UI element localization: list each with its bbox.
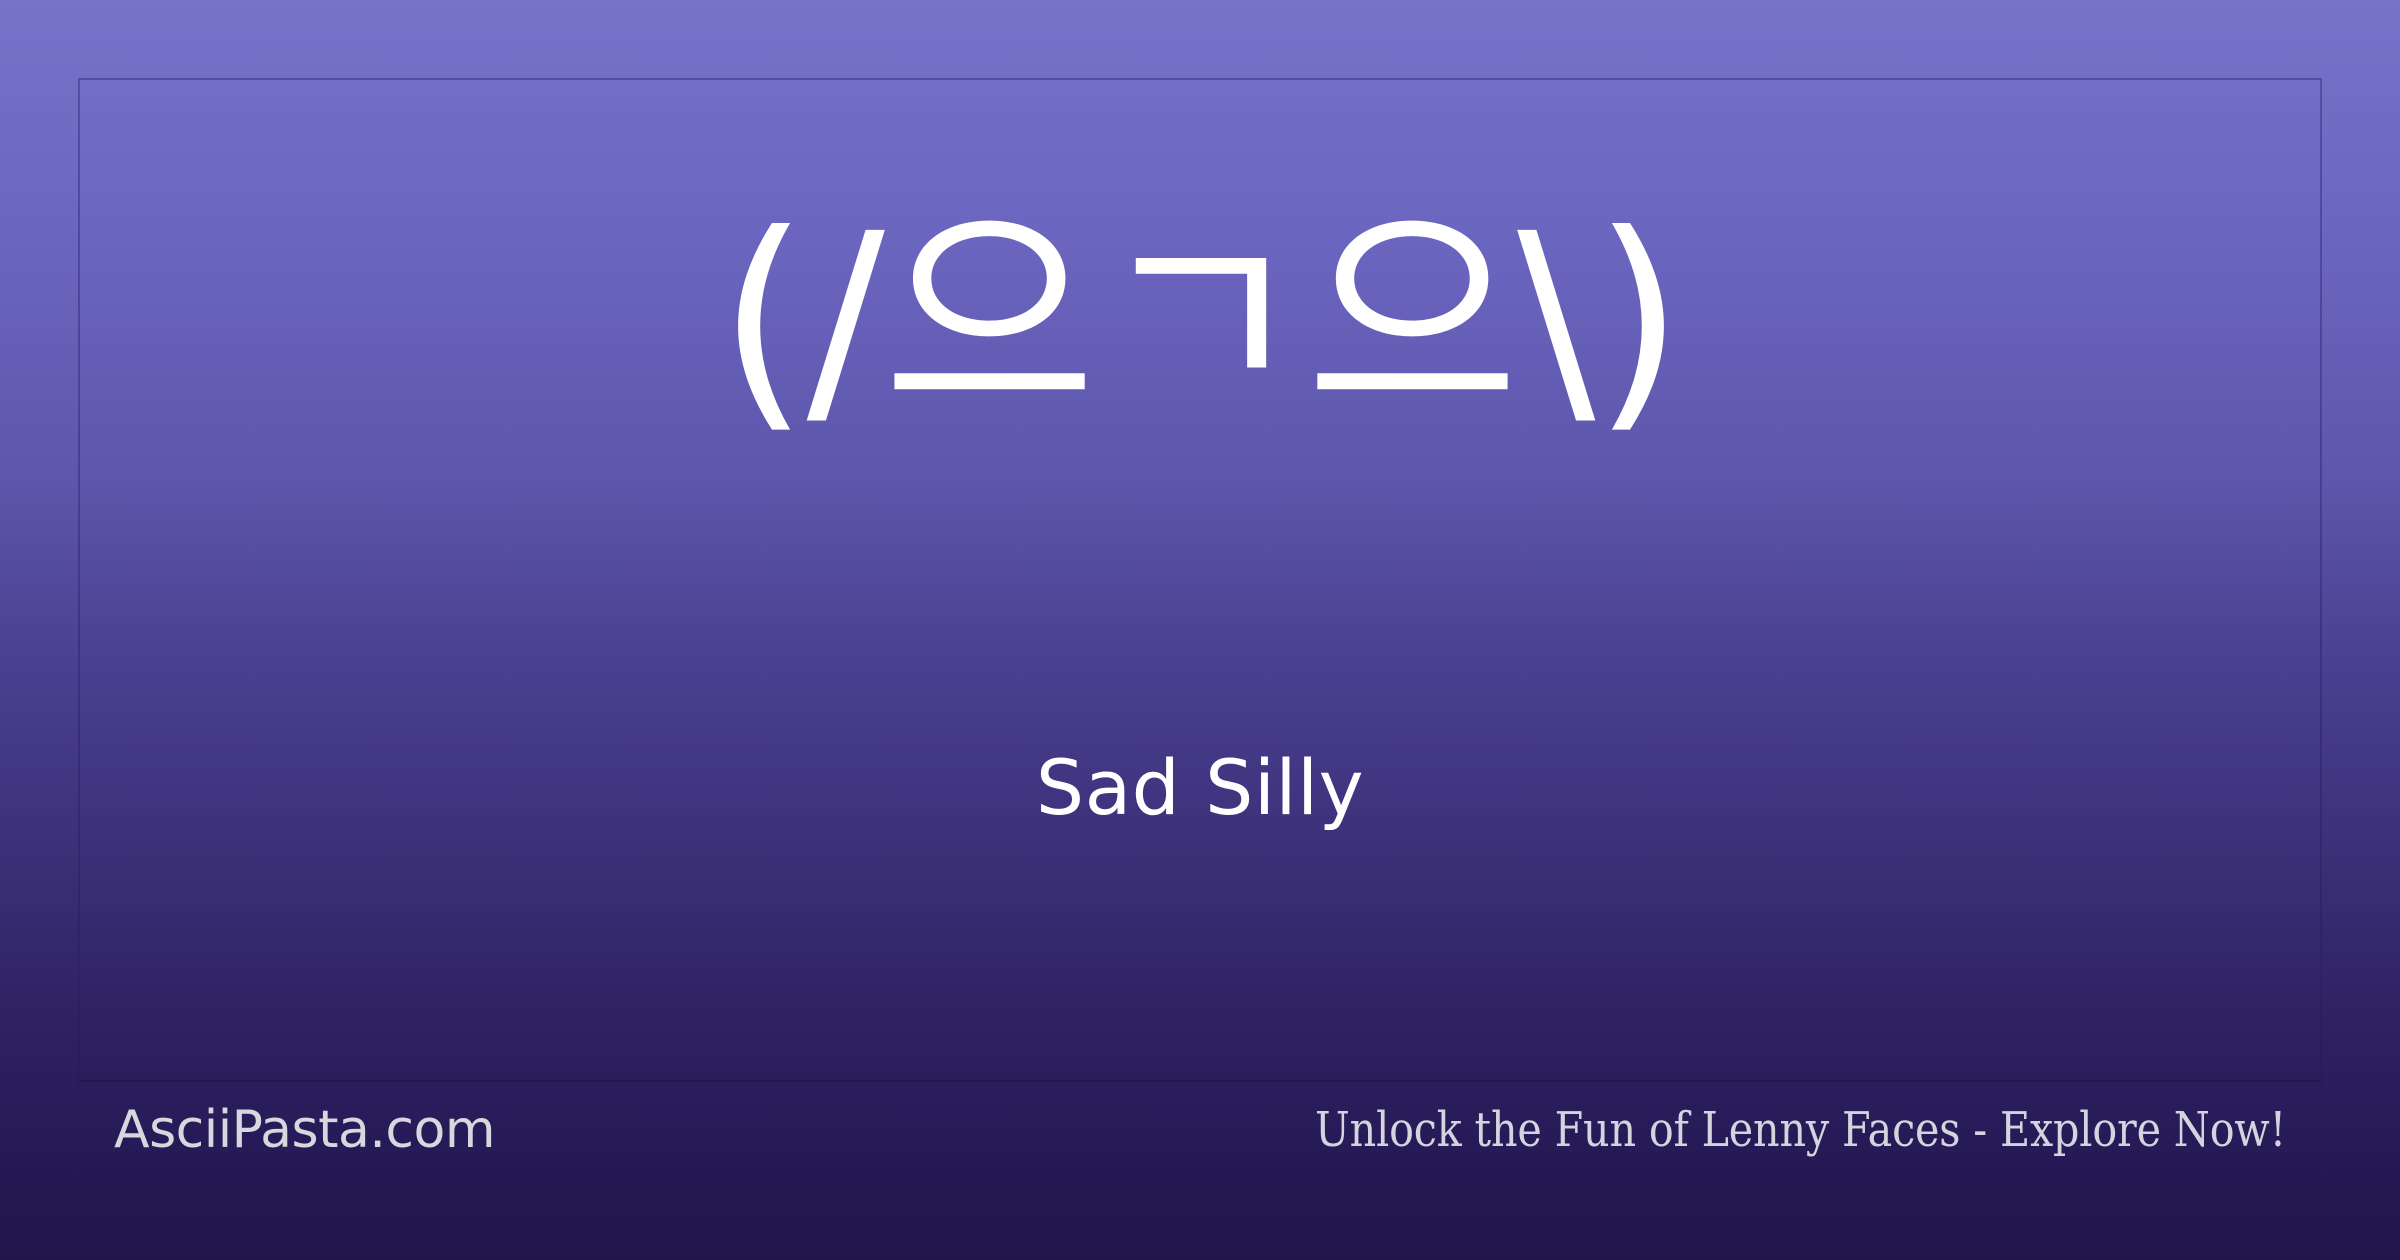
main-content-area: (/으ㄱ으\) Sad Silly — [80, 80, 2320, 1080]
footer-tagline: Unlock the Fun of Lenny Faces - Explore … — [1315, 1106, 2286, 1154]
content-card: (/으ㄱ으\) Sad Silly AsciiPasta.com Unlock … — [78, 78, 2322, 1180]
page-title: Sad Silly — [80, 750, 2320, 826]
footer-bar: AsciiPasta.com Unlock the Fun of Lenny F… — [80, 1080, 2320, 1178]
ascii-face-art[interactable]: (/으ㄱ으\) — [80, 198, 2320, 442]
brand-wordmark: AsciiPasta.com — [114, 1104, 495, 1156]
page-canvas: (/으ㄱ으\) Sad Silly AsciiPasta.com Unlock … — [0, 0, 2400, 1260]
